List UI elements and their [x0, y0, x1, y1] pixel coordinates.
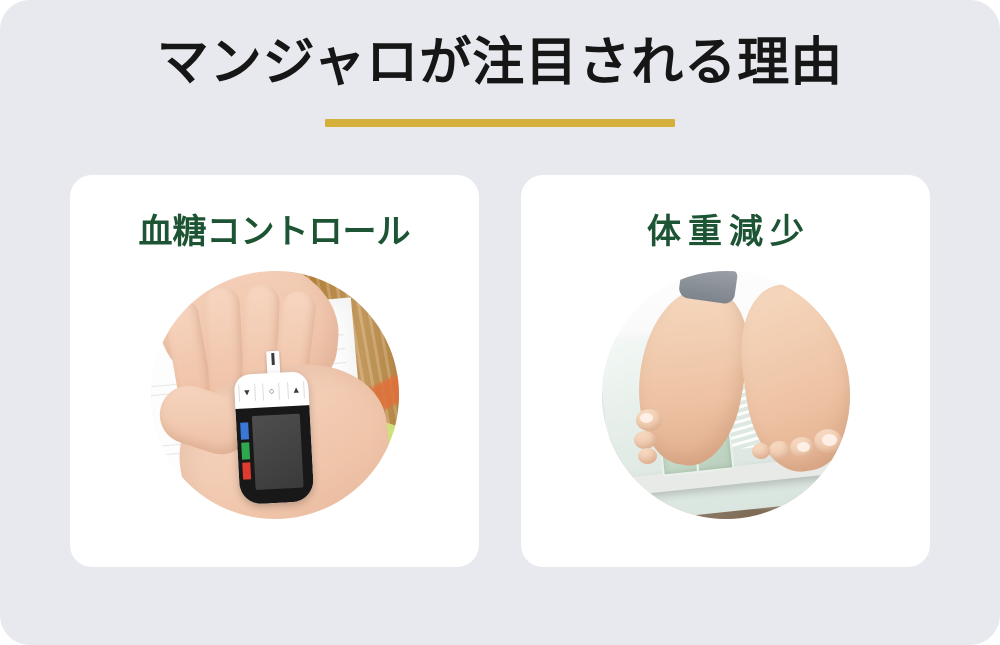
indicator-bars: [240, 422, 251, 482]
card-weight-loss[interactable]: 体重減少: [521, 175, 930, 567]
toe: [769, 441, 790, 460]
title-underline-bar: [325, 119, 675, 127]
toe: [634, 431, 656, 449]
card-title-weight-loss: 体重減少: [640, 215, 811, 249]
glucose-meter-device: ▼ ○ ▲: [233, 371, 314, 505]
toenail: [797, 442, 810, 452]
power-button-icon: ○: [262, 383, 280, 401]
toenail: [822, 434, 837, 446]
down-button-icon: ▼: [237, 384, 255, 402]
card-title-blood-sugar-control: 血糖コントロール: [139, 215, 411, 249]
toenail: [640, 413, 653, 423]
device-button-row: ▼ ○ ▲: [234, 381, 309, 402]
toe: [638, 448, 657, 464]
device-lcd-screen: [251, 414, 303, 490]
poster-canvas: マンジャロが注目される理由 血糖コントロール: [0, 0, 1000, 645]
page-title: マンジャロが注目される理由: [0, 34, 1000, 94]
bathroom-scale-photo: [602, 271, 850, 519]
glucose-meter-photo: ▼ ○ ▲: [151, 271, 399, 519]
header-block: マンジャロが注目される理由: [0, 34, 1000, 127]
up-button-icon: ▲: [287, 381, 305, 399]
device-face: [235, 405, 314, 505]
cards-row: 血糖コントロール: [70, 175, 930, 567]
card-blood-sugar-control[interactable]: 血糖コントロール: [70, 175, 479, 567]
toe: [752, 443, 770, 459]
